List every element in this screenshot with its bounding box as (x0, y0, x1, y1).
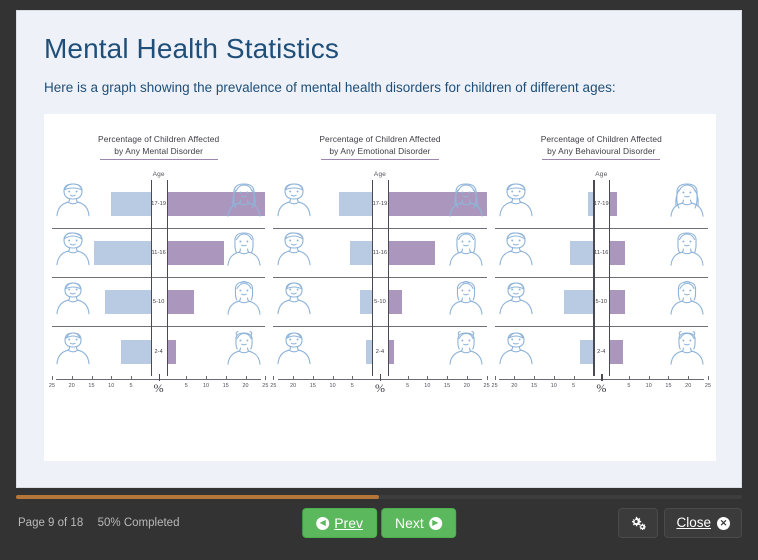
axis-tick-label: 25 (705, 383, 711, 389)
axis-tick (408, 376, 409, 380)
age-group-label: 2-4 (597, 349, 605, 355)
boy-avatar-icon (53, 230, 93, 276)
girl-avatar-icon (446, 329, 486, 375)
age-axis-label: Age (52, 171, 265, 178)
next-button[interactable]: Next ▶ (381, 508, 456, 538)
axis-tick-label: 25 (270, 383, 276, 389)
axis-tick-label: 20 (69, 383, 75, 389)
bar-male (111, 192, 151, 216)
completion-label: 50% Completed (98, 517, 180, 529)
axis-tick-label: 15 (665, 383, 671, 389)
chart-title-underline (321, 159, 439, 160)
axis-tick (246, 376, 247, 380)
chart-title-line-2: by Any Emotional Disorder (273, 146, 486, 158)
bar-female (388, 241, 435, 265)
axis-tick (52, 376, 53, 380)
chart-title: Percentage of Children Affectedby Any Em… (273, 122, 486, 160)
axis-tick (447, 376, 448, 380)
axis-tick (206, 376, 207, 380)
plot-area: 17-1911-165-102-4252015105%510152025 (495, 180, 708, 398)
axis-tick-label: 15 (531, 383, 537, 389)
chart-rows: 17-1911-165-102-4 (273, 180, 486, 376)
axis-tick-label: 25 (484, 383, 490, 389)
chart-panel: Percentage of Children Affectedby Any Be… (491, 122, 712, 461)
bar-male (94, 241, 151, 265)
charts-row: Percentage of Children Affectedby Any Me… (44, 114, 716, 461)
chart-row: 11-16 (495, 229, 708, 278)
bar-male (105, 290, 150, 314)
axis-tick (333, 376, 334, 380)
age-group-label: 11-16 (151, 250, 165, 256)
axis-tick (688, 376, 689, 380)
axis-tick (273, 376, 274, 380)
percent-symbol: % (154, 381, 164, 396)
axis-tick (226, 376, 227, 380)
boy-avatar-icon (53, 279, 93, 325)
boy-avatar-icon (274, 181, 314, 227)
age-group-label: 5-10 (596, 299, 608, 305)
age-group-label: 17-19 (373, 201, 388, 207)
axis-center-line-right (388, 180, 389, 376)
chart-title-line-2: by Any Behavioural Disorder (495, 146, 708, 158)
axis-tick (159, 374, 160, 381)
chart-title-line-2: by Any Mental Disorder (52, 146, 265, 158)
axis-tick-label: 5 (185, 383, 188, 389)
axis-tick (514, 376, 515, 380)
axis-tick (313, 376, 314, 380)
axis-tick-label: 25 (492, 383, 498, 389)
axis-center-line-left (372, 180, 373, 376)
page-title: Mental Health Statistics (44, 34, 741, 65)
girl-avatar-icon (446, 279, 486, 325)
axis-tick (601, 374, 602, 381)
chart-rows: 17-1911-165-102-4 (52, 180, 265, 376)
chart-title: Percentage of Children Affectedby Any Be… (495, 122, 708, 160)
slide-panel: Mental Health Statistics Here is a graph… (16, 10, 742, 488)
age-group-label: 5-10 (374, 299, 386, 305)
axis-center-line-right (167, 180, 168, 376)
axis-tick (186, 376, 187, 380)
axis-tick-label: 5 (351, 383, 354, 389)
axis-tick-label: 10 (108, 383, 114, 389)
arrow-circle-left-icon: ◀ (316, 517, 329, 530)
axis-tick (574, 376, 575, 380)
chart-row: 2-4 (52, 327, 265, 376)
axis-tick (668, 376, 669, 380)
axis-tick (293, 376, 294, 380)
axis-tick (72, 376, 73, 380)
slide-subtitle: Here is a graph showing the prevalence o… (44, 79, 741, 97)
girl-avatar-icon (667, 279, 707, 325)
age-group-label: 11-16 (594, 250, 608, 256)
close-button-label: Close (676, 516, 711, 530)
footer-toolbar: Page 9 of 18 50% Completed ◀ Prev Next ▶ (0, 503, 758, 560)
close-button[interactable]: Close ✕ (664, 508, 742, 538)
age-group-label: 2-4 (154, 349, 162, 355)
boy-avatar-icon (274, 279, 314, 325)
axis-tick (554, 376, 555, 380)
axis-tick (265, 376, 266, 380)
bar-male (360, 290, 372, 314)
next-button-label: Next (395, 516, 424, 530)
girl-avatar-icon (224, 279, 264, 325)
girl-avatar-icon (667, 329, 707, 375)
axis-tick (92, 376, 93, 380)
boy-avatar-icon (496, 181, 536, 227)
prev-button[interactable]: ◀ Prev (302, 508, 377, 538)
prev-button-label: Prev (334, 516, 363, 530)
chart-row: 17-19 (495, 180, 708, 229)
axis-tick (131, 376, 132, 380)
bar-male (350, 241, 372, 265)
chart-row: 11-16 (273, 229, 486, 278)
bar-male (580, 340, 594, 364)
bar-female (167, 340, 177, 364)
bar-male (564, 290, 594, 314)
presentation-window: Mental Health Statistics Here is a graph… (0, 0, 758, 560)
axis-tick-label: 20 (290, 383, 296, 389)
bar-female (609, 290, 625, 314)
axis-tick-label: 5 (406, 383, 409, 389)
cogs-icon (630, 516, 646, 530)
bar-female (388, 192, 487, 216)
axis-center-line-left (151, 180, 152, 376)
bar-female (167, 241, 224, 265)
girl-avatar-icon (446, 230, 486, 276)
chart-title-line-1: Percentage of Children Affected (495, 134, 708, 146)
arrow-circle-right-icon: ▶ (429, 517, 442, 530)
settings-button[interactable] (618, 508, 658, 538)
axis-tick-label: 10 (646, 383, 652, 389)
axis-tick-label: 15 (444, 383, 450, 389)
girl-avatar-icon (667, 230, 707, 276)
bar-male (339, 192, 373, 216)
axis-tick (629, 376, 630, 380)
axis-tick-label: 25 (49, 383, 55, 389)
age-axis-label: Age (273, 171, 486, 178)
page-status: Page 9 of 18 50% Completed (18, 517, 179, 529)
axis-tick-label: 5 (129, 383, 132, 389)
age-group-label: 5-10 (153, 299, 165, 305)
axis-tick (495, 376, 496, 380)
axis-tick (649, 376, 650, 380)
boy-avatar-icon (274, 329, 314, 375)
progress-track[interactable] (16, 495, 742, 499)
axis-tick-label: 5 (572, 383, 575, 389)
age-group-label: 11-16 (373, 250, 387, 256)
boy-avatar-icon (496, 329, 536, 375)
chart-row: 2-4 (273, 327, 486, 376)
chart-title-underline (100, 159, 218, 160)
bar-female (609, 192, 617, 216)
axis-tick-label: 20 (464, 383, 470, 389)
axis-tick-label: 20 (685, 383, 691, 389)
bar-female (388, 290, 402, 314)
bar-female (167, 192, 266, 216)
axis-tick (380, 374, 381, 381)
bar-female (167, 290, 195, 314)
chart-card: Percentage of Children Affectedby Any Me… (44, 114, 716, 461)
axis-tick-label: 10 (551, 383, 557, 389)
axis-tick-label: 15 (223, 383, 229, 389)
percent-symbol: % (596, 381, 606, 396)
axis-tick-label: 25 (262, 383, 268, 389)
chart-title: Percentage of Children Affectedby Any Me… (52, 122, 265, 160)
age-group-label: 2-4 (376, 349, 384, 355)
axis-tick-label: 15 (88, 383, 94, 389)
bar-male (121, 340, 151, 364)
age-axis-label: Age (495, 171, 708, 178)
bar-female (609, 241, 625, 265)
x-axis: 252015105%510152025 (52, 376, 265, 398)
bar-male (570, 241, 594, 265)
plot-area: 17-1911-165-102-4252015105%510152025 (273, 180, 486, 398)
boy-avatar-icon (274, 230, 314, 276)
percent-symbol: % (375, 381, 385, 396)
plot-area: 17-1911-165-102-4252015105%510152025 (52, 180, 265, 398)
axis-center-line-right (609, 180, 610, 376)
progress-fill (16, 495, 379, 499)
girl-avatar-icon (224, 329, 264, 375)
axis-tick (352, 376, 353, 380)
x-axis: 252015105%510152025 (495, 376, 708, 398)
axis-tick-label: 5 (627, 383, 630, 389)
navigation-buttons: ◀ Prev Next ▶ (302, 508, 456, 538)
chart-row: 11-16 (52, 229, 265, 278)
girl-avatar-icon (224, 230, 264, 276)
chart-rows: 17-1911-165-102-4 (495, 180, 708, 376)
chart-row: 5-10 (273, 278, 486, 327)
chart-row: 17-19 (273, 180, 486, 229)
axis-tick-label: 10 (329, 383, 335, 389)
axis-tick (467, 376, 468, 380)
boy-avatar-icon (53, 329, 93, 375)
axis-tick-label: 15 (310, 383, 316, 389)
boy-avatar-icon (53, 181, 93, 227)
axis-tick (534, 376, 535, 380)
axis-tick-label: 20 (511, 383, 517, 389)
girl-avatar-icon (667, 181, 707, 227)
boy-avatar-icon (496, 279, 536, 325)
window-controls: Close ✕ (618, 508, 742, 538)
chart-row: 5-10 (52, 278, 265, 327)
axis-center-line-left (593, 180, 594, 376)
times-circle-icon: ✕ (717, 517, 730, 530)
axis-tick-label: 10 (424, 383, 430, 389)
bar-female (609, 340, 623, 364)
chart-row: 2-4 (495, 327, 708, 376)
chart-panel: Percentage of Children Affectedby Any Em… (269, 122, 490, 461)
axis-tick (487, 376, 488, 380)
age-group-label: 17-19 (151, 201, 166, 207)
age-group-label: 17-19 (594, 201, 609, 207)
axis-tick (708, 376, 709, 380)
chart-title-underline (542, 159, 660, 160)
chart-title-line-1: Percentage of Children Affected (273, 134, 486, 146)
chart-panel: Percentage of Children Affectedby Any Me… (48, 122, 269, 461)
axis-tick (427, 376, 428, 380)
chart-row: 5-10 (495, 278, 708, 327)
page-number-label: Page 9 of 18 (18, 517, 83, 529)
boy-avatar-icon (496, 230, 536, 276)
x-axis: 252015105%510152025 (273, 376, 486, 398)
axis-tick-label: 10 (203, 383, 209, 389)
axis-tick (111, 376, 112, 380)
chart-row: 17-19 (52, 180, 265, 229)
axis-tick-label: 20 (242, 383, 248, 389)
chart-title-line-1: Percentage of Children Affected (52, 134, 265, 146)
